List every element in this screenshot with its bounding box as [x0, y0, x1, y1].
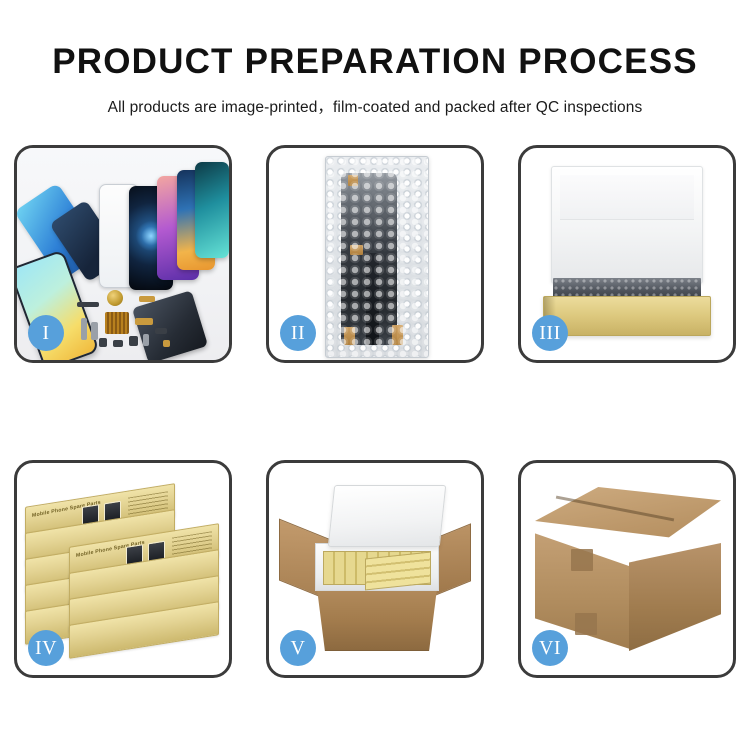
step-badge-2: II [280, 315, 316, 351]
product-preparation-page: PRODUCT PREPARATION PROCESS All products… [0, 0, 750, 750]
step-badge-5: V [280, 630, 316, 666]
page-title: PRODUCT PREPARATION PROCESS [0, 44, 750, 79]
step-badge-1: I [28, 315, 64, 351]
step-badge-4: IV [28, 630, 64, 666]
flex-cable [366, 253, 379, 345]
tape-mid [350, 245, 363, 255]
bubble-wrap-bag [325, 156, 429, 358]
process-step-grid: I II [14, 145, 736, 678]
phone-teal [195, 162, 229, 258]
page-header: PRODUCT PREPARATION PROCESS All products… [0, 0, 750, 117]
white-foam-lid [551, 166, 703, 284]
carton-tape-lower [575, 613, 597, 635]
process-step-panel-6[interactable]: VI [518, 460, 736, 678]
tape-lower-left [344, 327, 355, 345]
step-badge-6: VI [532, 630, 568, 666]
carton-side-face [629, 543, 721, 651]
tape-top [348, 175, 358, 186]
process-step-panel-4[interactable]: Mobile Phone Spare Parts Mobile Phone Sp… [14, 460, 232, 678]
carton-tape-upper [571, 549, 593, 571]
process-step-panel-3[interactable]: III [518, 145, 736, 363]
step-badge-3: III [532, 315, 568, 351]
foam-container-lid [328, 485, 447, 547]
sealed-shipping-carton [535, 487, 721, 651]
process-step-panel-2[interactable]: II [266, 145, 484, 363]
process-step-panel-5[interactable]: V [266, 460, 484, 678]
process-step-panel-1[interactable]: I [14, 145, 232, 363]
spare-parts-cluster [77, 288, 197, 360]
tape-lower-right [392, 325, 403, 345]
open-retail-box [541, 166, 713, 338]
yellow-box-tray [543, 296, 711, 336]
page-subtitle: All products are image-printed，film-coat… [0, 95, 750, 117]
